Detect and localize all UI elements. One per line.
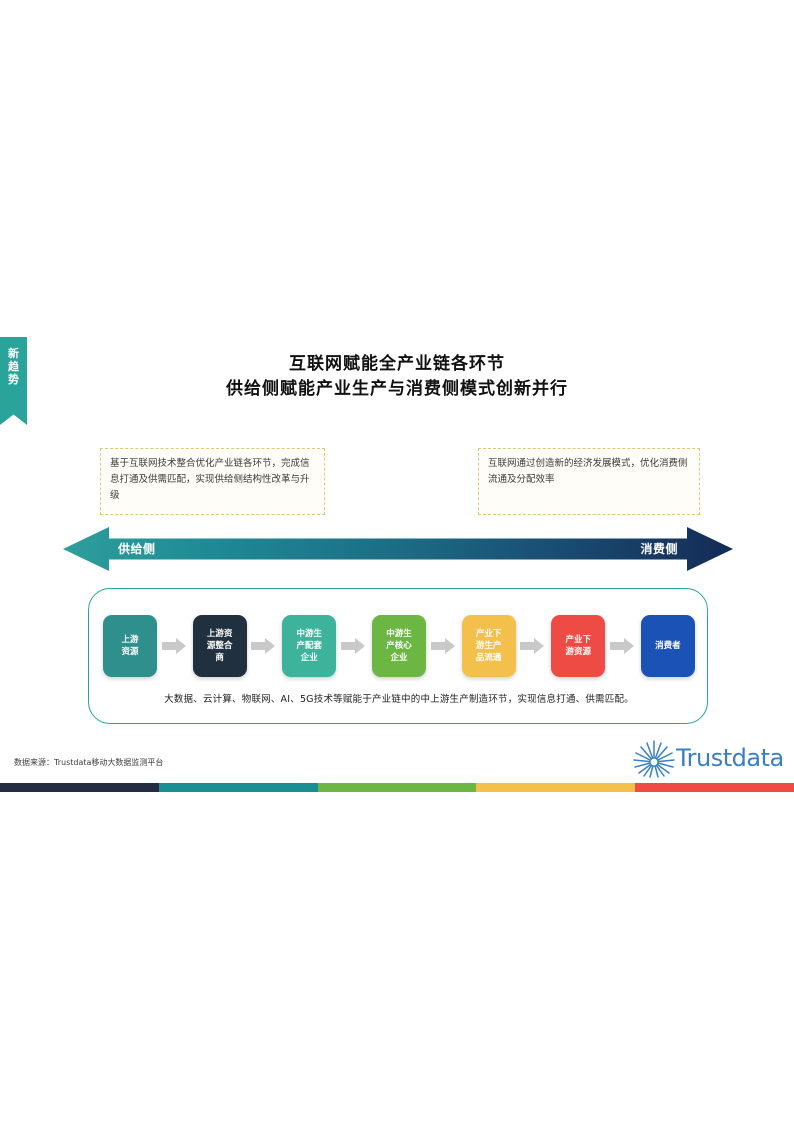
chain-arrow-icon [162, 638, 188, 654]
chain-node-line: 产业下 [476, 628, 502, 640]
chain-node-line: 品流通 [476, 652, 502, 664]
chain-node[interactable]: 上游资源 [103, 615, 157, 677]
sunburst-icon [630, 736, 678, 778]
chain-node[interactable]: 产业下游资源 [551, 615, 605, 677]
colorbar-segment [476, 783, 635, 792]
industry-chain-row: 上游资源上游资源整合商中游生产配套企业中游生产核心企业产业下游生产品流通产业下游… [103, 613, 695, 679]
chain-node-line: 中游生 [386, 628, 412, 640]
note-supply-side: 基于互联网技术整合优化产业链各环节，完成信息打通及供需匹配，实现供给侧结构性改革… [100, 448, 325, 515]
title-line-2: 供给侧赋能产业生产与消费侧模式创新并行 [0, 376, 794, 402]
arrow-label-supply: 供给侧 [118, 540, 156, 557]
chain-arrow-icon [431, 638, 457, 654]
chain-arrow-icon [251, 638, 277, 654]
data-source-note: 数据来源：Trustdata移动大数据监测平台 [14, 757, 163, 768]
page-title: 互联网赋能全产业链各环节 供给侧赋能产业生产与消费侧模式创新并行 [0, 352, 794, 402]
colorbar-segment [0, 783, 159, 792]
industry-chain-container: 上游资源上游资源整合商中游生产配套企业中游生产核心企业产业下游生产品流通产业下游… [88, 588, 708, 724]
trustdata-logo: Trustdata [630, 736, 780, 780]
chain-node-line: 企业 [390, 652, 407, 664]
supply-consumption-arrow: 供给侧 消费侧 [63, 527, 733, 571]
chain-node-line: 产配套 [297, 640, 323, 652]
colorbar-segment [159, 783, 318, 792]
arrow-shape-icon [63, 527, 733, 571]
chain-node[interactable]: 产业下游生产品流通 [462, 615, 516, 677]
logo-wordmark: Trustdata [676, 744, 784, 772]
arrow-label-consumption: 消费侧 [640, 540, 678, 557]
chain-node-line: 游资源 [566, 646, 592, 658]
chain-node[interactable]: 中游生产核心企业 [372, 615, 426, 677]
chain-node-line: 上游资 [207, 628, 233, 640]
chain-caption: 大数据、云计算、物联网、AI、5G技术等赋能于产业链中的中上游生产制造环节，实现… [89, 691, 709, 705]
colorbar-segment [318, 783, 477, 792]
chain-node-line: 上游 [121, 634, 138, 646]
chain-node-line: 商 [215, 652, 224, 664]
chain-node[interactable]: 上游资源整合商 [193, 615, 247, 677]
chain-arrow-icon [610, 638, 636, 654]
chain-node-line: 游生产 [476, 640, 502, 652]
footer-colorbar [0, 783, 794, 792]
title-line-1: 互联网赋能全产业链各环节 [0, 352, 794, 376]
chain-node-line: 资源 [121, 646, 138, 658]
chain-node[interactable]: 中游生产配套企业 [282, 615, 336, 677]
chain-node-line: 企业 [301, 652, 318, 664]
chain-node-line: 消费者 [655, 640, 681, 652]
chain-node-line: 中游生 [297, 628, 323, 640]
slide-canvas: 新 趋 势 互联网赋能全产业链各环节 供给侧赋能产业生产与消费侧模式创新并行 基… [0, 0, 794, 800]
chain-node-line: 产业下 [566, 634, 592, 646]
chain-arrow-icon [341, 638, 367, 654]
colorbar-segment [635, 783, 794, 792]
chain-arrow-icon [520, 638, 546, 654]
note-consumption-side: 互联网通过创造新的经济发展模式，优化消费侧流通及分配效率 [478, 448, 700, 515]
chain-node[interactable]: 消费者 [641, 615, 695, 677]
chain-node-line: 产核心 [386, 640, 412, 652]
chain-node-line: 源整合 [207, 640, 233, 652]
